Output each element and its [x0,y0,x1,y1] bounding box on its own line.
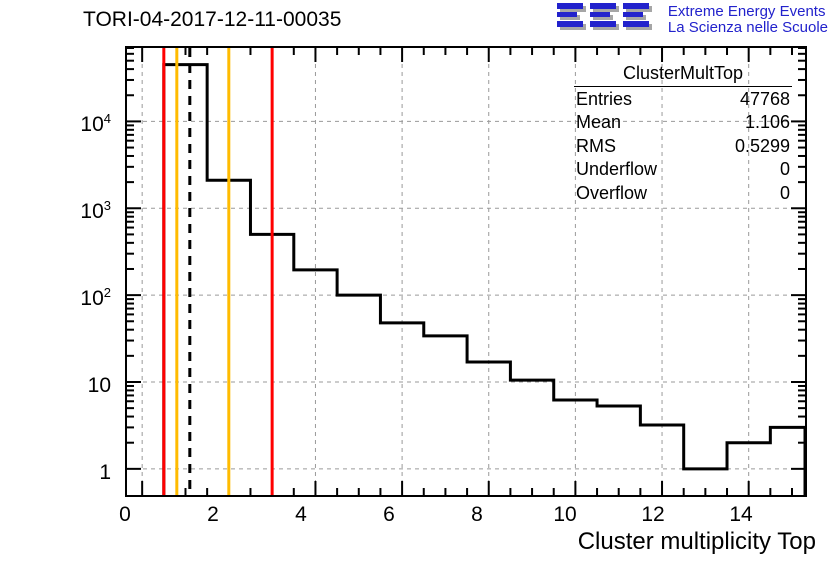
stats-row-key: Entries [576,88,632,111]
y-tick-label-10: 10 [26,374,111,398]
eee-logo-mark [556,2,660,38]
stats-row-value: 1.106 [745,111,790,134]
eee-logo-icon [556,2,660,38]
x-tick-label-0: 0 [105,503,145,527]
y-tick-label-100: 102 [26,285,111,311]
y-tick-label-10000: 104 [26,111,111,137]
marker-lines [164,48,272,495]
x-tick-label-14: 14 [721,503,761,527]
stats-row-key: Mean [576,111,621,134]
eee-logo-line2: La Scienza nelle Scuole [668,20,828,36]
stats-rows: Entries47768Mean1.106RMS0.5299Underflow0… [566,88,800,205]
stats-row: RMS0.5299 [566,135,800,158]
eee-logo: Extreme Energy Events La Scienza nelle S… [556,2,828,38]
stats-row: Mean1.106 [566,111,800,134]
eee-logo-line1: Extreme Energy Events [668,4,828,20]
root-canvas: TORI-04-2017-12-11-00035 [0,0,836,572]
stats-row-value: 0.5299 [735,135,790,158]
x-tick-label-2: 2 [193,503,233,527]
stats-row: Entries47768 [566,88,800,111]
y-tick-label-1000: 103 [26,198,111,224]
y-tick-label-1: 1 [26,461,111,485]
x-tick-label-12: 12 [633,503,673,527]
x-tick-label-10: 10 [545,503,585,527]
x-tick-label-8: 8 [457,503,497,527]
x-tick-label-6: 6 [369,503,409,527]
x-tick-label-4: 4 [281,503,321,527]
stats-row-value: 47768 [740,88,790,111]
stats-title: ClusterMultTop [574,62,792,87]
stats-row-value: 0 [780,182,790,205]
eee-logo-text: Extreme Energy Events La Scienza nelle S… [668,4,828,36]
stats-row-key: Underflow [576,158,657,181]
stats-row-key: Overflow [576,182,647,205]
stats-box: ClusterMultTop Entries47768Mean1.106RMS0… [566,62,800,205]
stats-row-value: 0 [780,158,790,181]
x-axis-title: Cluster multiplicity Top [578,528,816,556]
stats-row: Underflow0 [566,158,800,181]
page-title: TORI-04-2017-12-11-00035 [83,8,341,32]
stats-row-key: RMS [576,135,616,158]
stats-row: Overflow0 [566,182,800,205]
